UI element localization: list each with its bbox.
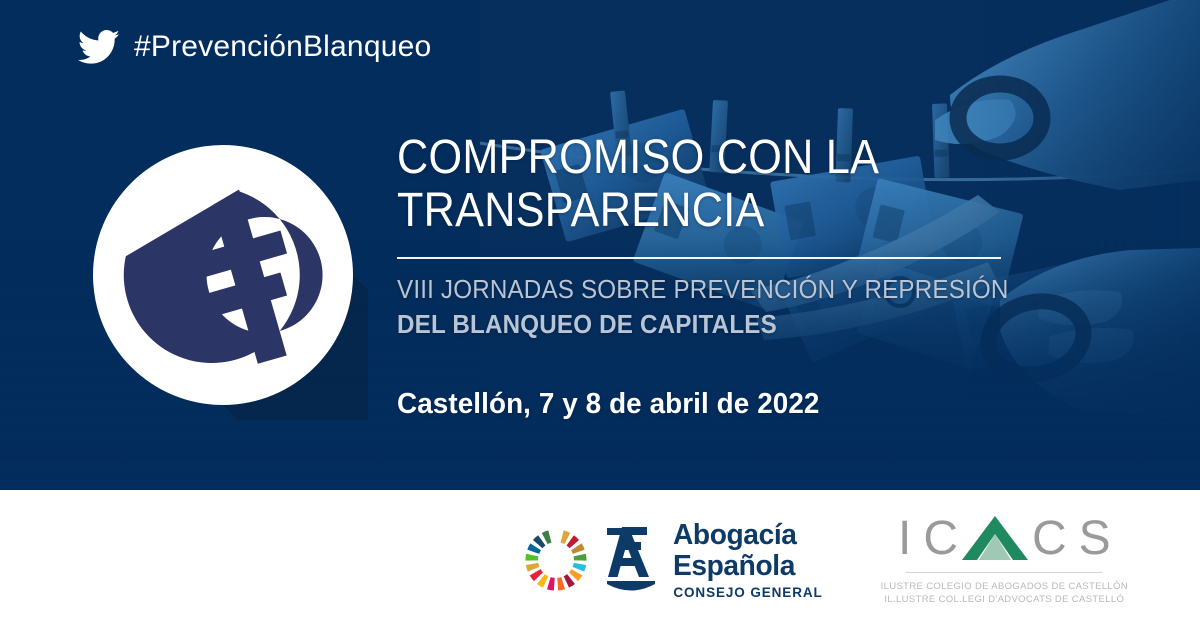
icacs-logo: I C C S ILUSTRE COLEGIO DE ABOGADOS DE C… — [881, 514, 1128, 606]
icacs-subtitle-ca: IL.LUSTRE COL.LEGI D'ADVOCATS DE CASTELL… — [884, 593, 1124, 606]
poster: 50 EURO 50 EURO — [0, 0, 1200, 630]
footer-logo-bar: Abogacía Española CONSEJO GENERAL I C C … — [0, 490, 1200, 630]
euro-logo-graphic — [78, 130, 368, 420]
sdg-wheel-icon — [523, 527, 589, 593]
abogacia-text-block: Abogacía Española CONSEJO GENERAL — [673, 521, 822, 600]
twitter-bird-icon — [78, 29, 120, 65]
icacs-mountain-a-icon — [960, 514, 1030, 562]
subtitle-line-2: DEL BLANQUEO DE CAPITALES — [397, 310, 992, 340]
subtitle-line-1: VIII JORNADAS SOBRE PREVENCIÓN Y REPRESI… — [397, 275, 992, 305]
euro-crossed-circle-logo — [78, 130, 368, 420]
event-date: Castellón, 7 y 8 de abril de 2022 — [397, 388, 1011, 421]
hero-text-block: COMPROMISO CON LA TRANSPARENCIA VIII JOR… — [397, 132, 1037, 421]
icacs-letter-c2: C — [1032, 516, 1067, 562]
page-title: COMPROMISO CON LA TRANSPARENCIA — [397, 132, 973, 238]
hashtag-block: #PrevenciónBlanqueo — [78, 29, 431, 65]
title-divider — [397, 257, 1001, 259]
icacs-letter-i: I — [898, 516, 911, 562]
abogacia-line-1: Abogacía — [673, 521, 818, 550]
hashtag-text: #PrevenciónBlanqueo — [134, 32, 431, 62]
abogacia-espanola-logo: Abogacía Española CONSEJO GENERAL — [523, 521, 822, 600]
icacs-letter-c1: C — [923, 516, 958, 562]
abogacia-line-3: CONSEJO GENERAL — [673, 586, 822, 600]
icacs-divider — [906, 572, 1102, 573]
icacs-lettermark: I C C S — [898, 514, 1111, 562]
abogacia-a-emblem-icon — [605, 522, 657, 598]
icacs-letter-s: S — [1079, 516, 1111, 562]
icacs-subtitle-es: ILUSTRE COLEGIO DE ABOGADOS DE CASTELLÓN — [881, 580, 1128, 593]
hero-banner: 50 EURO 50 EURO — [0, 0, 1200, 490]
abogacia-line-2: Española — [673, 552, 818, 581]
